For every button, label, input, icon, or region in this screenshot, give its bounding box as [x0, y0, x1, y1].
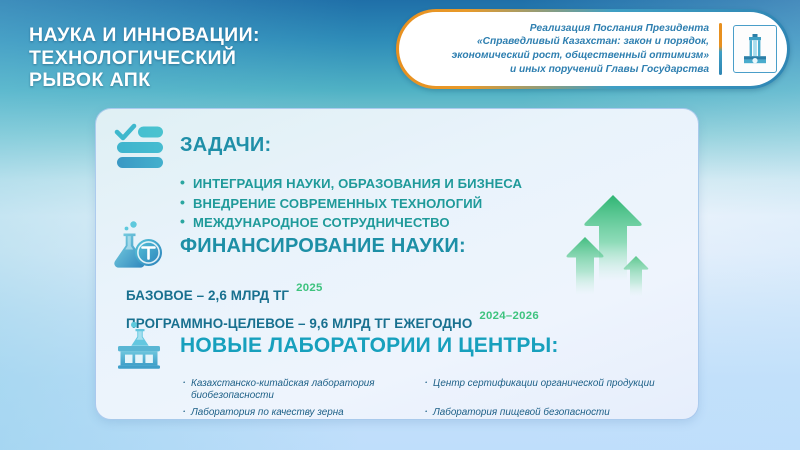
- section-financing: ФИНАНСИРОВАНИЕ НАУКИ: БАЗОВОЕ – 2,6 МЛРД…: [112, 221, 539, 334]
- content-card: ЗАДАЧИ: ИНТЕГРАЦИЯ НАУКИ, ОБРАЗОВАНИЯ И …: [95, 108, 699, 420]
- flask-tenge-icon: [112, 221, 166, 271]
- labs-list: Казахстанско-китайская лаборатория биобе…: [180, 378, 658, 419]
- list-item: Центр сертификации органической продукци…: [422, 378, 658, 403]
- financing-line-year: 2025: [296, 282, 323, 294]
- page-title: НАУКА И ИННОВАЦИИ: ТЕХНОЛОГИЧЕСКИЙ РЫВОК…: [29, 24, 260, 92]
- checklist-icon: [112, 121, 166, 169]
- tasks-title: ЗАДАЧИ:: [180, 134, 271, 157]
- growth-arrows-icon: [555, 193, 675, 323]
- list-item: Лаборатория пищевой безопасности: [422, 407, 658, 419]
- list-item: Лаборатория по качеству зерна: [180, 407, 406, 419]
- financing-title: ФИНАНСИРОВАНИЕ НАУКИ:: [180, 235, 466, 258]
- financing-line: БАЗОВОЕ – 2,6 МЛРД ТГ2025: [126, 278, 539, 306]
- banner-divider: [719, 23, 722, 75]
- section-tasks: ЗАДАЧИ: ИНТЕГРАЦИЯ НАУКИ, ОБРАЗОВАНИЯ И …: [112, 121, 522, 233]
- banner-text: Реализация Послания Президента «Справедл…: [417, 22, 719, 76]
- labs-header: НОВЫЕ ЛАБОРАТОРИИ И ЦЕНТРЫ:: [112, 321, 658, 371]
- labs-title: НОВЫЕ ЛАБОРАТОРИИ И ЦЕНТРЫ:: [180, 334, 559, 358]
- president-address-banner: Реализация Послания Президента «Справедл…: [396, 9, 790, 89]
- list-item: Казахстанско-китайская лаборатория биобе…: [180, 378, 406, 403]
- kazakhstan-emblem-icon: [733, 25, 777, 73]
- banner-inner: Реализация Послания Президента «Справедл…: [399, 12, 787, 86]
- section-labs: НОВЫЕ ЛАБОРАТОРИИ И ЦЕНТРЫ: Казахстанско…: [112, 321, 658, 419]
- financing-line-text: БАЗОВОЕ – 2,6 МЛРД ТГ: [126, 288, 289, 303]
- lab-building-icon: [112, 321, 166, 371]
- list-item: ВНЕДРЕНИЕ СОВРЕМЕННЫХ ТЕХНОЛОГИЙ: [180, 194, 522, 214]
- tasks-header: ЗАДАЧИ:: [112, 121, 522, 169]
- list-item: ИНТЕГРАЦИЯ НАУКИ, ОБРАЗОВАНИЯ И БИЗНЕСА: [180, 174, 522, 194]
- financing-header: ФИНАНСИРОВАНИЕ НАУКИ:: [112, 221, 539, 271]
